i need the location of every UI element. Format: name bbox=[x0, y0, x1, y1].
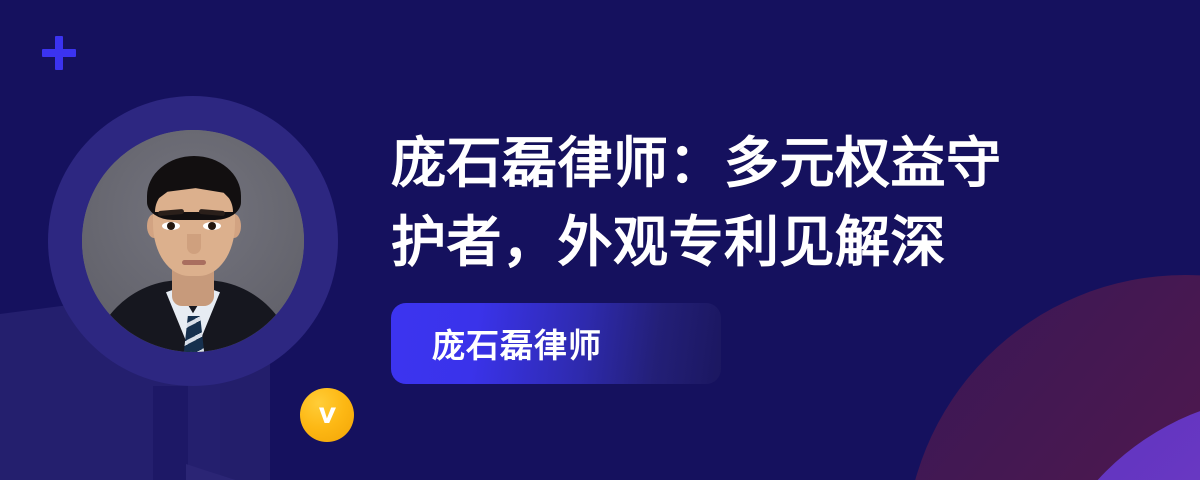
profile-banner: 庞石磊律师：多元权益守 护者，外观专利见解深 庞石磊律师 bbox=[0, 0, 1200, 480]
page-title: 庞石磊律师：多元权益守 护者，外观专利见解深 bbox=[391, 124, 1081, 282]
lawyer-name-button[interactable]: 庞石磊律师 bbox=[391, 303, 721, 384]
avatar bbox=[48, 96, 338, 386]
verified-badge-icon bbox=[300, 388, 354, 442]
content-block: 庞石磊律师：多元权益守 护者，外观专利见解深 庞石磊律师 bbox=[391, 124, 1081, 384]
plus-icon bbox=[42, 36, 76, 70]
portrait-nose bbox=[187, 234, 201, 254]
avatar-photo bbox=[82, 130, 304, 352]
angled-panel-d bbox=[153, 386, 188, 480]
portrait-eye-right bbox=[203, 222, 221, 230]
portrait-eye-left bbox=[162, 222, 180, 230]
cta-row: 庞石磊律师 bbox=[391, 303, 1081, 384]
portrait-mouth bbox=[182, 260, 206, 265]
